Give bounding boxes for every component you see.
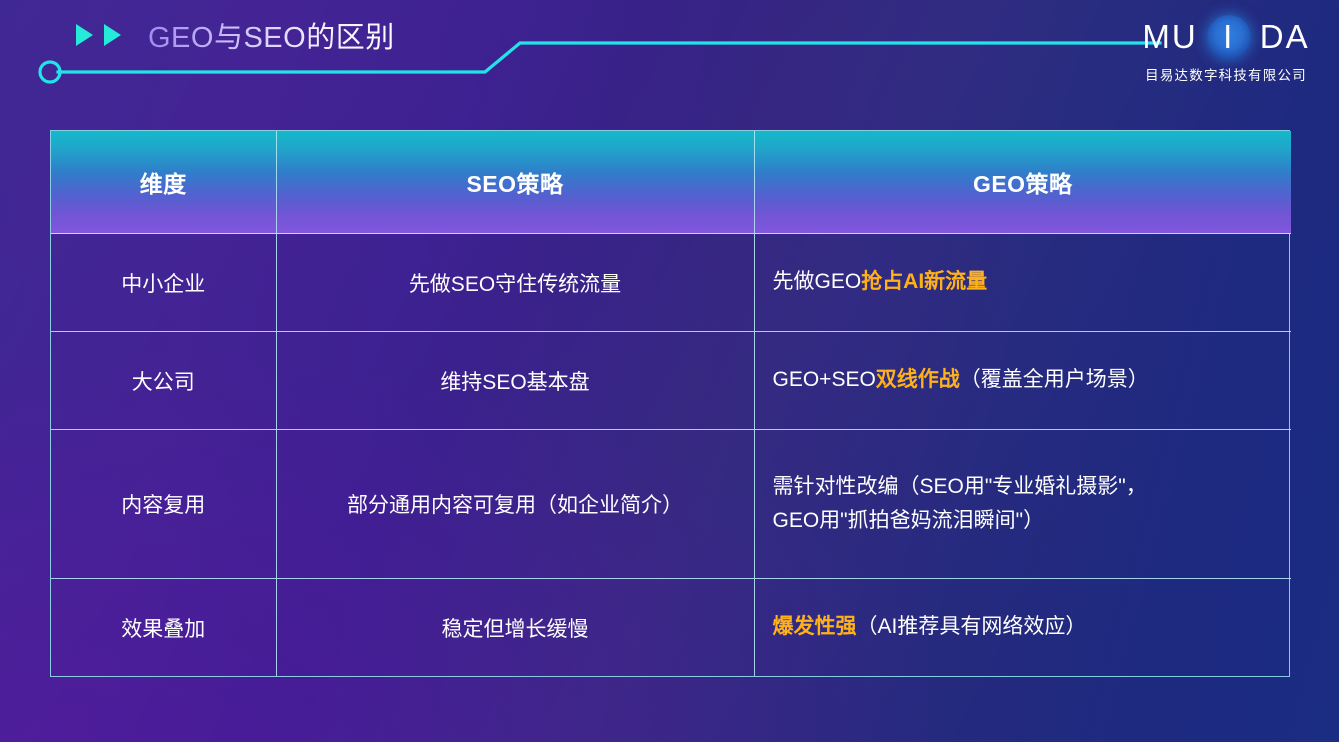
- title-arrow-markers: [76, 24, 121, 46]
- table-row: 大公司 维持SEO基本盘 GEO+SEO双线作战（覆盖全用户场景）: [51, 332, 1291, 430]
- logo-orb-icon: I: [1207, 15, 1251, 59]
- logo-text-i: I: [1223, 18, 1234, 56]
- geo-text-plain-2: （AI推荐具有网络效应）: [857, 615, 1087, 638]
- slide-canvas: GEO与SEO的区别 MU I DA 目易达数字科技有限公司 维度 SEO策略: [0, 0, 1339, 742]
- geo-text-line-1: 需针对性改编（SEO用"专业婚礼摄影"，: [773, 470, 1274, 504]
- comparison-table-container: 维度 SEO策略 GEO策略 中小企业 先做SEO守住传统流量 先做GEO抢占A…: [50, 130, 1290, 677]
- table-row: 内容复用 部分通用内容可复用（如企业简介） 需针对性改编（SEO用"专业婚礼摄影…: [51, 430, 1291, 579]
- column-header-dimension: 维度: [51, 131, 276, 234]
- cell-seo: 维持SEO基本盘: [276, 332, 754, 430]
- logo-wordmark: MU I DA: [1131, 14, 1321, 60]
- column-header-seo: SEO策略: [276, 131, 754, 234]
- geo-text-plain: 先做GEO: [773, 270, 862, 293]
- cell-seo: 部分通用内容可复用（如企业简介）: [276, 430, 754, 579]
- brand-logo: MU I DA 目易达数字科技有限公司: [1131, 14, 1321, 84]
- table-row: 效果叠加 稳定但增长缓慢 爆发性强（AI推荐具有网络效应）: [51, 579, 1291, 677]
- cell-geo: 爆发性强（AI推荐具有网络效应）: [754, 579, 1291, 677]
- geo-text-line-2: GEO用"抓拍爸妈流泪瞬间"）: [773, 504, 1274, 538]
- geo-text-plain: GEO+SEO: [773, 368, 876, 391]
- cell-geo: 先做GEO抢占AI新流量: [754, 234, 1291, 332]
- comparison-table: 维度 SEO策略 GEO策略 中小企业 先做SEO守住传统流量 先做GEO抢占A…: [51, 131, 1291, 676]
- logo-text-da: DA: [1260, 18, 1310, 56]
- cell-geo: GEO+SEO双线作战（覆盖全用户场景）: [754, 332, 1291, 430]
- table-body: 中小企业 先做SEO守住传统流量 先做GEO抢占AI新流量 大公司 维持SEO基…: [51, 234, 1291, 677]
- table-header: 维度 SEO策略 GEO策略: [51, 131, 1291, 234]
- geo-text-highlight: 双线作战: [876, 368, 960, 391]
- page-title: GEO与SEO的区别: [148, 14, 395, 56]
- geo-text-highlight: 爆发性强: [773, 615, 857, 638]
- column-header-geo: GEO策略: [754, 131, 1291, 234]
- logo-text-mu: MU: [1142, 18, 1197, 56]
- table-header-row: 维度 SEO策略 GEO策略: [51, 131, 1291, 234]
- cell-seo: 先做SEO守住传统流量: [276, 234, 754, 332]
- slide-header: GEO与SEO的区别 MU I DA 目易达数字科技有限公司: [0, 0, 1339, 100]
- cell-seo: 稳定但增长缓慢: [276, 579, 754, 677]
- cell-dimension: 大公司: [51, 332, 276, 430]
- cell-dimension: 中小企业: [51, 234, 276, 332]
- triangle-right-icon: [76, 24, 93, 46]
- cell-geo: 需针对性改编（SEO用"专业婚礼摄影"， GEO用"抓拍爸妈流泪瞬间"）: [754, 430, 1291, 579]
- triangle-right-icon: [104, 24, 121, 46]
- table-row: 中小企业 先做SEO守住传统流量 先做GEO抢占AI新流量: [51, 234, 1291, 332]
- cell-dimension: 内容复用: [51, 430, 276, 579]
- geo-text-plain-2: （覆盖全用户场景）: [960, 368, 1149, 391]
- geo-text-highlight: 抢占AI新流量: [861, 270, 987, 293]
- company-name: 目易达数字科技有限公司: [1131, 64, 1321, 84]
- cell-dimension: 效果叠加: [51, 579, 276, 677]
